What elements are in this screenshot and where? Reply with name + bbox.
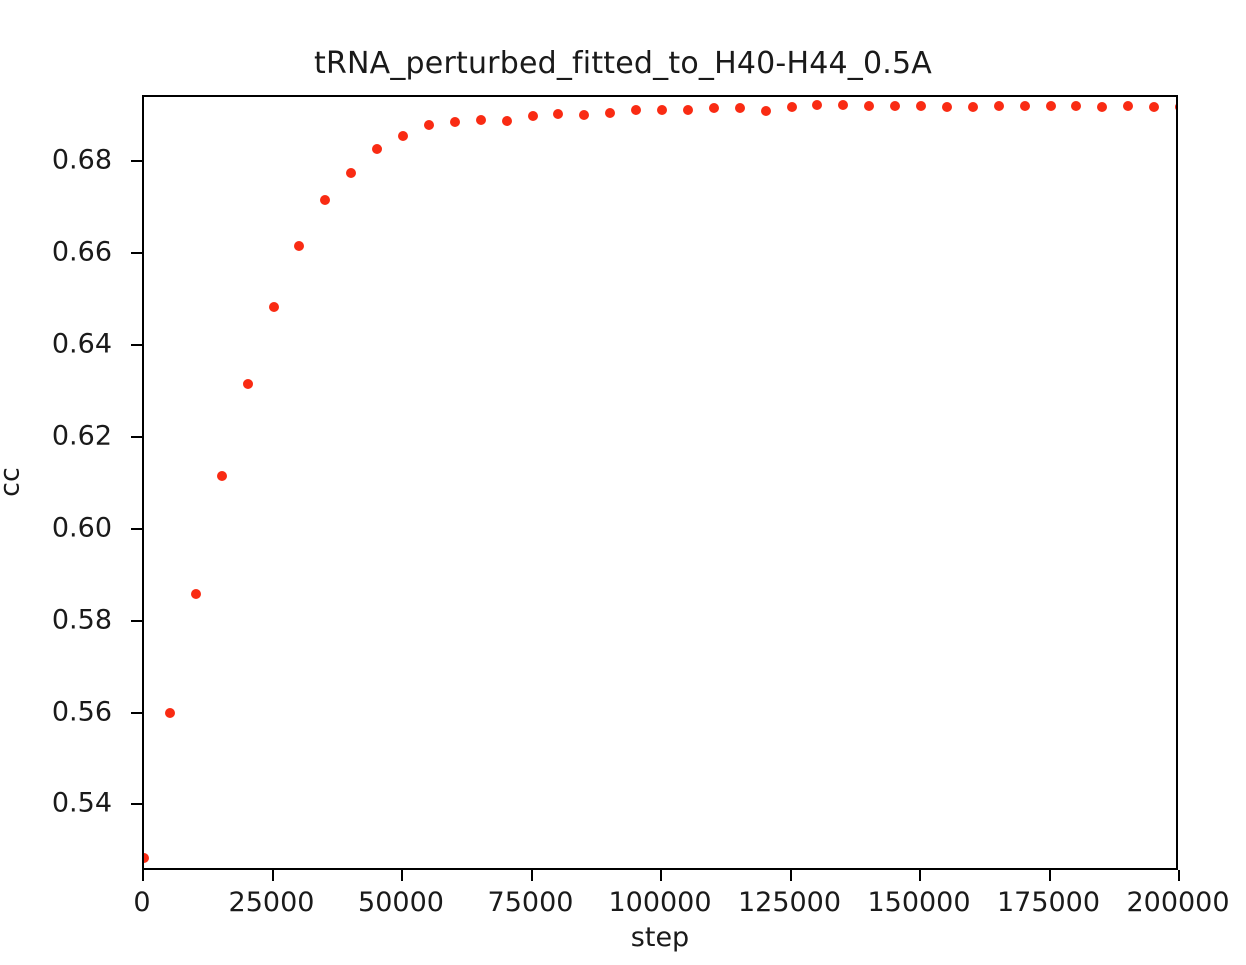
data-point [165,708,175,718]
data-point [269,302,279,312]
x-tick-label: 0 [133,887,150,918]
x-tick-mark [790,870,792,881]
data-point [890,101,900,111]
x-tick-mark [401,870,403,881]
x-tick-label: 75000 [488,887,574,918]
y-tick-mark [131,528,142,530]
y-tick-label: 0.60 [52,512,122,543]
x-tick-mark [531,870,533,881]
x-tick-label: 125000 [738,887,841,918]
y-tick-label: 0.58 [52,604,122,635]
data-point [657,105,667,115]
y-tick-mark [131,344,142,346]
data-point [1175,102,1176,112]
x-tick-mark [142,870,144,881]
data-point [398,131,408,141]
y-tick-mark [131,252,142,254]
data-point [1046,101,1056,111]
y-tick-mark [131,620,142,622]
data-point [994,101,1004,111]
data-point [1097,102,1107,112]
y-tick-label: 0.56 [52,696,122,727]
scatter-series [144,97,1176,868]
data-point [476,115,486,125]
y-tick-label: 0.54 [52,788,122,819]
data-point [916,101,926,111]
data-point [320,195,330,205]
y-tick-mark [131,436,142,438]
data-point [1020,101,1030,111]
data-point [812,100,822,110]
x-tick-mark [919,870,921,881]
data-point [144,853,149,863]
x-axis-label: step [142,922,1178,953]
data-point [450,117,460,127]
x-tick-mark [272,870,274,881]
data-point [191,589,201,599]
x-tick-label: 200000 [1126,887,1229,918]
x-tick-mark [660,870,662,881]
data-point [579,110,589,120]
y-tick-mark [131,712,142,714]
data-point [294,241,304,251]
data-point [553,109,563,119]
data-point [735,103,745,113]
x-tick-label: 175000 [997,887,1100,918]
data-point [761,106,771,116]
data-point [424,120,434,130]
y-tick-label: 0.62 [52,420,122,451]
y-tick-label: 0.66 [52,237,122,268]
data-point [838,100,848,110]
data-point [1149,102,1159,112]
data-point [631,105,641,115]
data-point [346,168,356,178]
data-point [1071,101,1081,111]
data-point [243,379,253,389]
data-point [502,116,512,126]
data-point [683,105,693,115]
y-tick-mark [131,160,142,162]
x-tick-label: 150000 [867,887,970,918]
data-point [605,108,615,118]
y-tick-label: 0.64 [52,328,122,359]
y-tick-label: 0.68 [52,145,122,176]
x-tick-label: 25000 [229,887,315,918]
x-tick-mark [1049,870,1051,881]
figure-canvas: tRNA_perturbed_fitted_to_H40-H44_0.5A cc… [0,0,1246,965]
data-point [864,101,874,111]
y-axis-label: cc [0,467,26,497]
data-point [1123,101,1133,111]
data-point [942,102,952,112]
data-point [968,102,978,112]
data-point [787,102,797,112]
x-tick-mark [1178,870,1180,881]
data-point [709,103,719,113]
y-tick-mark [131,803,142,805]
chart-title: tRNA_perturbed_fitted_to_H40-H44_0.5A [0,46,1246,81]
x-tick-label: 100000 [608,887,711,918]
data-point [528,111,538,121]
plot-area [142,95,1178,870]
data-point [372,144,382,154]
x-tick-label: 50000 [358,887,444,918]
data-point [217,471,227,481]
